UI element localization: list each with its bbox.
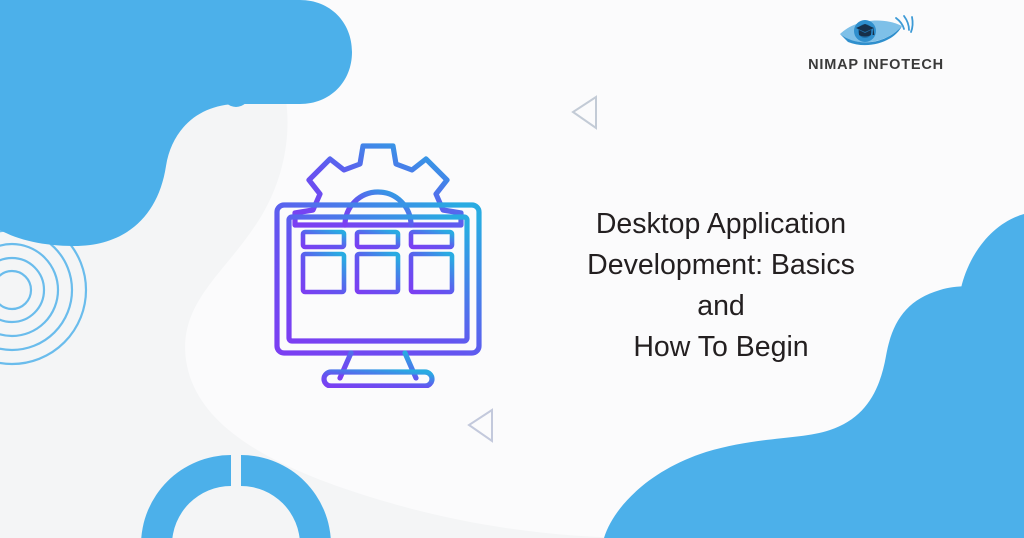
screen-content [303, 232, 452, 292]
page-title: Desktop Application Development: Basics … [561, 204, 881, 368]
blog-banner: NIMAP INFOTECH Desktop Application Devel… [0, 0, 1024, 538]
eye-with-graduation-cap-icon [824, 8, 928, 56]
concentric-circles [0, 216, 86, 364]
screen-col-header [411, 232, 452, 247]
blue-donut-ring [141, 455, 331, 538]
screen-col-box [357, 254, 398, 292]
screen-text-lines [305, 304, 450, 326]
blue-curve-shape [958, 214, 1024, 352]
brand-name: NIMAP INFOTECH [808, 57, 944, 73]
desktop-monitor-with-gear-illustration [262, 140, 494, 388]
monitor-screen [289, 217, 467, 341]
triangle-outline-left-lower [469, 410, 492, 441]
screen-col-header [357, 232, 398, 247]
blue-dot [222, 79, 250, 107]
page-title-line-1: Desktop Application [561, 204, 881, 245]
screen-col-header [303, 232, 344, 247]
triangle-outline-left-upper [573, 97, 596, 128]
page-title-line-3: How To Begin [561, 327, 881, 368]
page-title-line-2: Development: Basics and [561, 245, 881, 327]
screen-col-box [411, 254, 452, 292]
brand-logo: NIMAP INFOTECH [806, 8, 946, 88]
gear-hub [345, 192, 411, 225]
screen-col-box [303, 254, 344, 292]
gear-icon [295, 146, 461, 225]
